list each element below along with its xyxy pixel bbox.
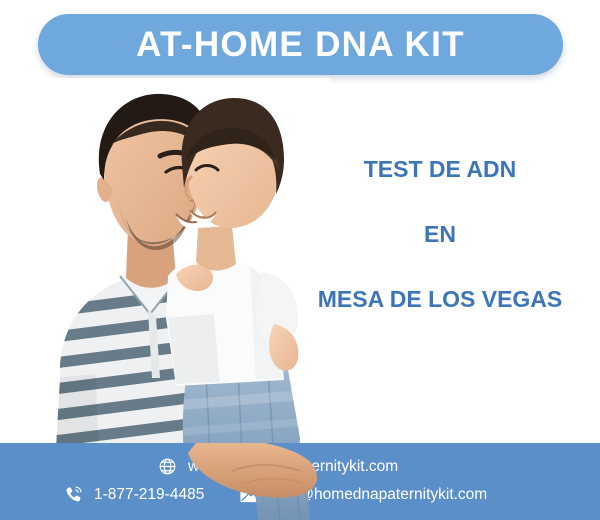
headline-line-1: TEST DE ADN <box>290 158 590 181</box>
headline-line-3: MESA DE LOS VEGAS <box>290 288 590 311</box>
phone-icon <box>64 485 83 504</box>
poster-canvas: AT-HOME DNA KIT <box>0 0 600 520</box>
headline-block: TEST DE ADN EN MESA DE LOS VEGAS <box>290 158 590 311</box>
website-url[interactable]: www.homednapaternitykit.com <box>188 459 398 475</box>
envelope-icon <box>240 486 262 503</box>
page-title: AT-HOME DNA KIT <box>136 27 465 62</box>
headline-line-2: EN <box>290 223 590 246</box>
footer-contact-row: 1-877-219-4485 info@homednapaternitykit.… <box>64 485 487 504</box>
title-banner: AT-HOME DNA KIT <box>38 14 563 75</box>
globe-icon <box>158 457 177 476</box>
email-address[interactable]: info@homednapaternitykit.com <box>273 487 487 503</box>
footer-website-row: www.homednapaternitykit.com <box>158 457 398 476</box>
phone-number[interactable]: 1-877-219-4485 <box>94 487 204 503</box>
footer-bar: www.homednapaternitykit.com 1-877-219-44… <box>0 443 600 520</box>
